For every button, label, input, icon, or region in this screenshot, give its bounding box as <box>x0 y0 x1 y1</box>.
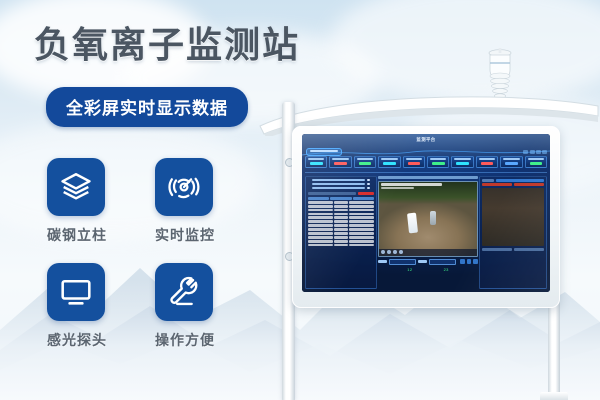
metric-chip[interactable] <box>329 156 351 168</box>
feature-item-0[interactable]: 碳钢立柱 <box>47 158 107 245</box>
reading-row: 12 23 <box>378 267 478 272</box>
section-divider <box>305 172 547 173</box>
play-button[interactable] <box>381 250 385 254</box>
pager-button[interactable] <box>460 259 465 264</box>
toolbar-button[interactable] <box>542 150 547 154</box>
pause-button[interactable] <box>387 250 391 254</box>
search-button[interactable] <box>358 192 374 195</box>
video-panel-header <box>378 176 478 179</box>
table-row[interactable] <box>308 240 374 243</box>
toolbar-button[interactable] <box>530 150 535 154</box>
snapshot-button[interactable] <box>393 250 397 254</box>
metric-chip[interactable] <box>427 156 449 168</box>
feature-item-3[interactable]: 操作方便 <box>155 263 215 350</box>
dashboard-title: 监测平台 <box>302 137 550 143</box>
feature-tile[interactable] <box>155 263 213 321</box>
reading-value-right: 23 <box>444 267 449 272</box>
feature-tile[interactable] <box>47 263 105 321</box>
table-search-bar[interactable] <box>308 192 374 195</box>
radar-icon <box>167 170 201 204</box>
feature-tile[interactable] <box>47 158 105 216</box>
feature-label: 操作方便 <box>155 330 215 350</box>
table-row[interactable] <box>308 232 374 235</box>
feature-label: 实时监控 <box>155 225 215 245</box>
metric-chip[interactable] <box>354 156 376 168</box>
table-row[interactable] <box>308 201 374 204</box>
camera-osd-text <box>381 183 442 186</box>
reading-value-left: 12 <box>407 267 412 272</box>
metric-chip-row <box>305 156 547 168</box>
table-row[interactable] <box>308 209 374 212</box>
station-name-tag <box>306 148 342 156</box>
toolbar-button[interactable] <box>536 150 541 154</box>
metric-chip[interactable] <box>305 156 327 168</box>
stat-row <box>312 183 370 185</box>
feature-item-2[interactable]: 感光探头 <box>47 263 107 350</box>
post-base <box>540 392 568 400</box>
table-row[interactable] <box>308 224 374 227</box>
table-row[interactable] <box>308 216 374 219</box>
camera-osd-timestamp <box>381 187 414 189</box>
toolbar-button[interactable] <box>523 150 528 154</box>
feature-grid: 碳钢立柱 <box>47 158 267 350</box>
video-filter-row[interactable] <box>378 259 478 265</box>
filter-label <box>418 260 427 263</box>
fullscreen-button[interactable] <box>399 250 403 254</box>
wrench-icon <box>167 275 201 309</box>
summary-stats <box>312 179 370 189</box>
metric-chip[interactable] <box>403 156 425 168</box>
monitor-icon <box>59 275 93 309</box>
table-header <box>308 197 374 200</box>
video-panel[interactable]: 12 23 <box>378 176 478 289</box>
metric-chip[interactable] <box>451 156 473 168</box>
table-row[interactable] <box>308 213 374 216</box>
live-camera-feed[interactable] <box>378 181 478 257</box>
subtitle-badge: 全彩屏实时显示数据 <box>46 87 248 127</box>
metric-chip[interactable] <box>500 156 522 168</box>
outdoor-lcd-display[interactable]: 监测平台 <box>302 134 550 292</box>
stat-row <box>312 187 370 189</box>
stat-row <box>312 179 370 181</box>
table-row[interactable] <box>308 236 374 239</box>
feature-item-1[interactable]: 实时监控 <box>155 158 215 245</box>
date-select[interactable] <box>429 259 456 265</box>
pager-button[interactable] <box>467 259 472 264</box>
video-controls[interactable] <box>379 249 477 256</box>
data-table-panel[interactable] <box>305 176 377 289</box>
filter-label <box>378 260 387 263</box>
feature-label: 碳钢立柱 <box>47 225 107 245</box>
layers-icon <box>59 170 93 204</box>
metric-chip[interactable] <box>525 156 547 168</box>
dashboard-toolbar[interactable] <box>523 150 547 154</box>
banner-stage: 负氧离子监测站 全彩屏实时显示数据 碳钢立柱 <box>0 0 600 400</box>
table-row[interactable] <box>308 228 374 231</box>
person-figure <box>430 211 436 225</box>
metric-chip[interactable] <box>378 156 400 168</box>
table-row[interactable] <box>308 244 374 247</box>
feature-label: 感光探头 <box>47 330 107 350</box>
monitoring-dashboard[interactable]: 监测平台 <box>302 134 550 292</box>
alert-snapshot-image[interactable] <box>482 188 544 246</box>
pager-button[interactable] <box>473 259 478 264</box>
person-figure <box>407 212 418 233</box>
metric-chip[interactable] <box>476 156 498 168</box>
table-row[interactable] <box>308 220 374 223</box>
search-input[interactable] <box>308 192 356 195</box>
alert-panel-footer <box>480 246 546 253</box>
feature-tile[interactable] <box>155 158 213 216</box>
table-row[interactable] <box>308 205 374 208</box>
alert-panel[interactable] <box>479 176 547 289</box>
device-select[interactable] <box>389 259 416 265</box>
monitoring-station-product: 监测平台 <box>248 40 600 400</box>
